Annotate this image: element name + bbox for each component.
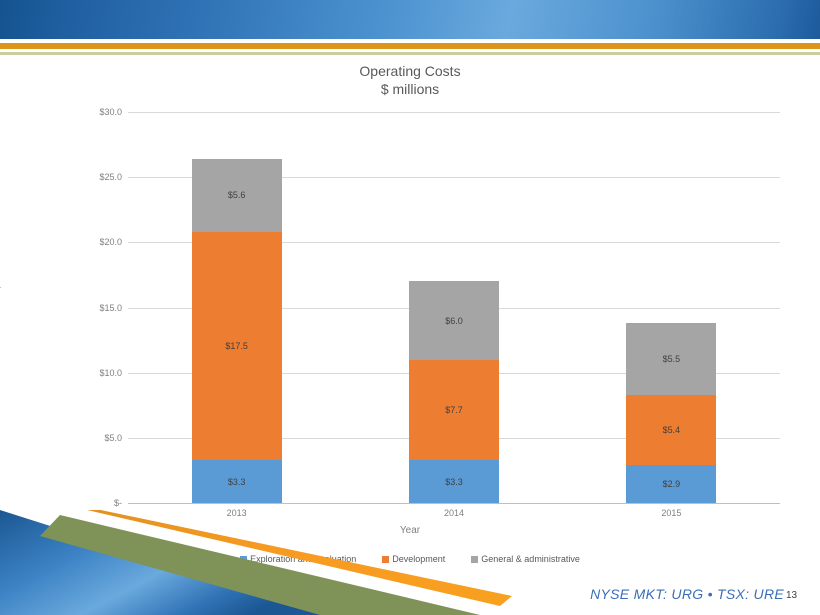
y-axis-tick-label: $30.0 — [62, 107, 122, 117]
chart-title-sub: $ millions — [0, 80, 820, 98]
slide-canvas: Operating Costs $ millions $ Millions $-… — [0, 0, 820, 615]
bar-segment[interactable]: $3.3 — [409, 460, 499, 503]
bar-segment[interactable]: $7.7 — [409, 360, 499, 460]
y-axis-tick-label: $- — [62, 498, 122, 508]
chart-title-main: Operating Costs — [0, 62, 820, 80]
y-axis-tick-label: $20.0 — [62, 237, 122, 247]
bar-segment[interactable]: $6.0 — [409, 281, 499, 359]
y-axis-title: $ Millions — [0, 252, 2, 290]
y-axis-tick-label: $25.0 — [62, 172, 122, 182]
bar-segment[interactable]: $5.6 — [192, 159, 282, 232]
bar-stack-2015[interactable]: $5.5$5.4$2.9 — [626, 323, 716, 503]
bar-stack-2013[interactable]: $5.6$17.5$3.3 — [192, 159, 282, 503]
chart-plot-area: $5.6$17.5$3.3$6.0$7.7$3.3$5.5$5.4$2.9 — [128, 112, 780, 503]
bar-segment[interactable]: $3.3 — [192, 460, 282, 503]
exchange-ticker: NYSE MKT: URG • TSX: URE — [0, 586, 784, 602]
header-olive-band — [0, 52, 820, 55]
y-axis-tick-labels: $-$5.0$10.0$15.0$20.0$25.0$30.0 — [58, 112, 122, 503]
x-axis-line — [128, 503, 780, 504]
gridline — [128, 112, 780, 113]
header-blue-band — [0, 0, 820, 39]
bar-segment[interactable]: $17.5 — [192, 232, 282, 460]
y-axis-tick-label: $5.0 — [62, 433, 122, 443]
y-axis-tick-label: $10.0 — [62, 368, 122, 378]
bar-segment[interactable]: $2.9 — [626, 465, 716, 503]
bar-segment[interactable]: $5.5 — [626, 323, 716, 395]
bar-stack-2014[interactable]: $6.0$7.7$3.3 — [409, 281, 499, 503]
y-axis-tick-label: $15.0 — [62, 303, 122, 313]
bar-segment[interactable]: $5.4 — [626, 395, 716, 465]
page-number: 13 — [786, 590, 797, 601]
chart-title: Operating Costs $ millions — [0, 62, 820, 98]
